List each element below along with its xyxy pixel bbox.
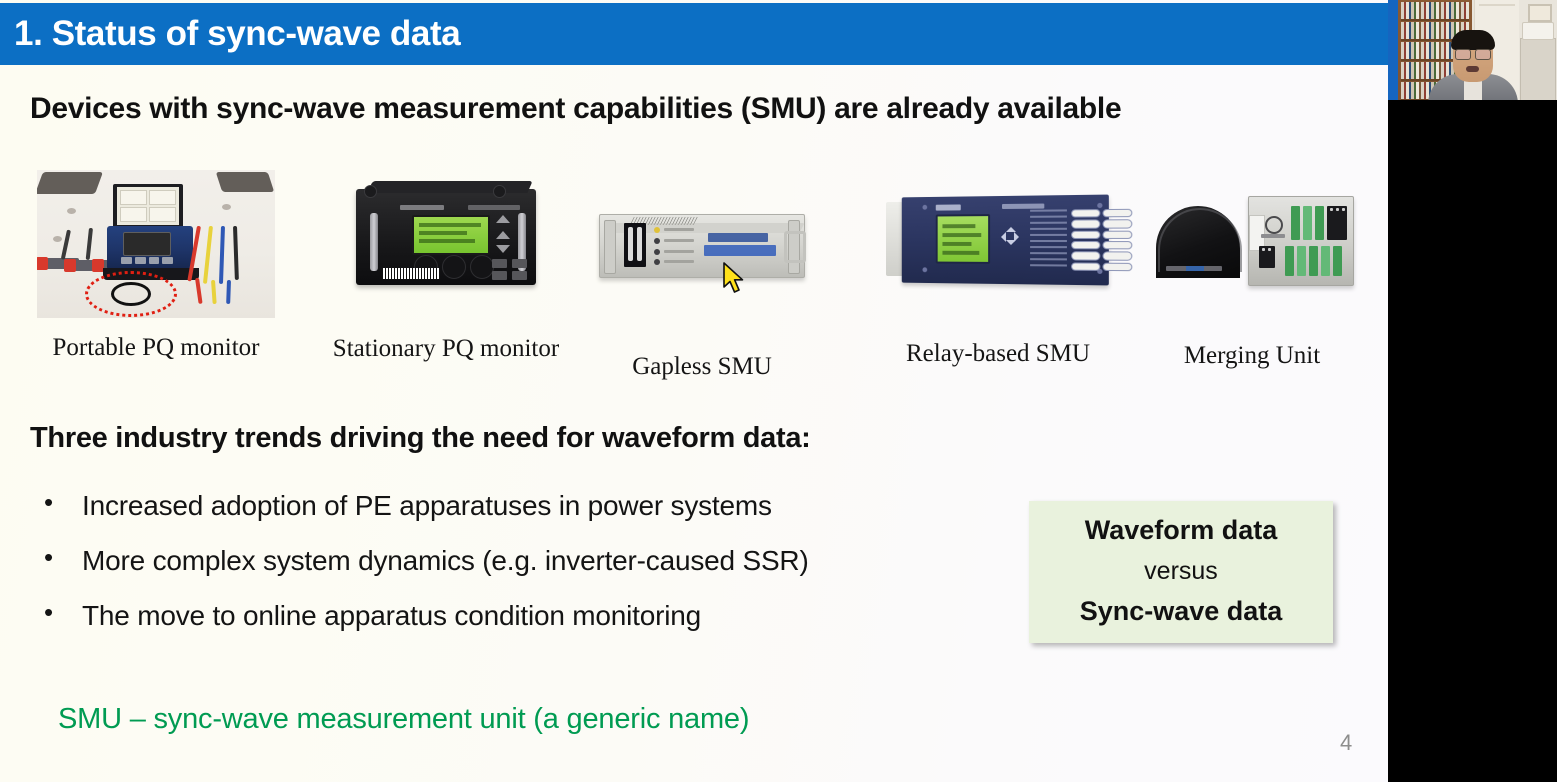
stationary-pq-monitor-photo	[356, 189, 536, 285]
device-caption: Relay-based SMU	[906, 340, 1090, 368]
presenter-webcam-thumbnail[interactable]	[1388, 0, 1557, 100]
device-item-portable-pq-monitor: Portable PQ monitor	[37, 170, 275, 318]
list-item: Increased adoption of PE apparatuses in …	[38, 490, 998, 522]
section-heading-devices: Devices with sync-wave measurement capab…	[30, 92, 1121, 126]
page-title: 1. Status of sync-wave data	[14, 14, 460, 54]
device-caption: Stationary PQ monitor	[333, 335, 559, 363]
device-item-relay-based-smu: Relay-based SMU	[886, 190, 1110, 294]
callout-line-1: Waveform data	[1029, 515, 1333, 546]
device-caption: Portable PQ monitor	[53, 334, 260, 362]
slide-number: 4	[1340, 730, 1352, 756]
section-heading-trends: Three industry trends driving the need f…	[30, 422, 811, 455]
merging-unit-black-module	[1156, 206, 1240, 278]
gapless-smu-photo	[599, 214, 805, 278]
presentation-slide: 1. Status of sync-wave data Devices with…	[0, 0, 1388, 782]
list-item: More complex system dynamics (e.g. inver…	[38, 545, 998, 577]
red-annotation-ellipse	[85, 271, 177, 317]
smu-definition-note: SMU – sync-wave measurement unit (a gene…	[58, 703, 749, 736]
screen: 1. Status of sync-wave data Devices with…	[0, 0, 1557, 782]
trend-bullet-list: Increased adoption of PE apparatuses in …	[38, 490, 998, 655]
device-item-stationary-pq-monitor: Stationary PQ monitor	[348, 175, 544, 299]
relay-based-smu-photo	[902, 195, 1109, 286]
device-item-gapless-smu: Gapless SMU	[595, 198, 809, 294]
device-item-merging-unit: Merging Unit	[1152, 190, 1352, 294]
callout-line-3: Sync-wave data	[1029, 596, 1333, 627]
portable-pq-monitor-photo	[37, 170, 275, 318]
device-caption: Gapless SMU	[632, 353, 772, 381]
slide-title-bar: 1. Status of sync-wave data	[0, 3, 1388, 65]
callout-line-2: versus	[1029, 557, 1333, 586]
list-item: The move to online apparatus condition m…	[38, 600, 998, 632]
device-caption: Merging Unit	[1184, 342, 1320, 370]
merging-unit-chassis	[1248, 196, 1354, 286]
webcam-lower-black-area	[1388, 100, 1557, 782]
device-gallery: Portable PQ monitor	[0, 160, 1388, 380]
presenter-avatar	[1440, 30, 1506, 100]
waveform-vs-syncwave-callout: Waveform data versus Sync-wave data	[1029, 501, 1333, 643]
